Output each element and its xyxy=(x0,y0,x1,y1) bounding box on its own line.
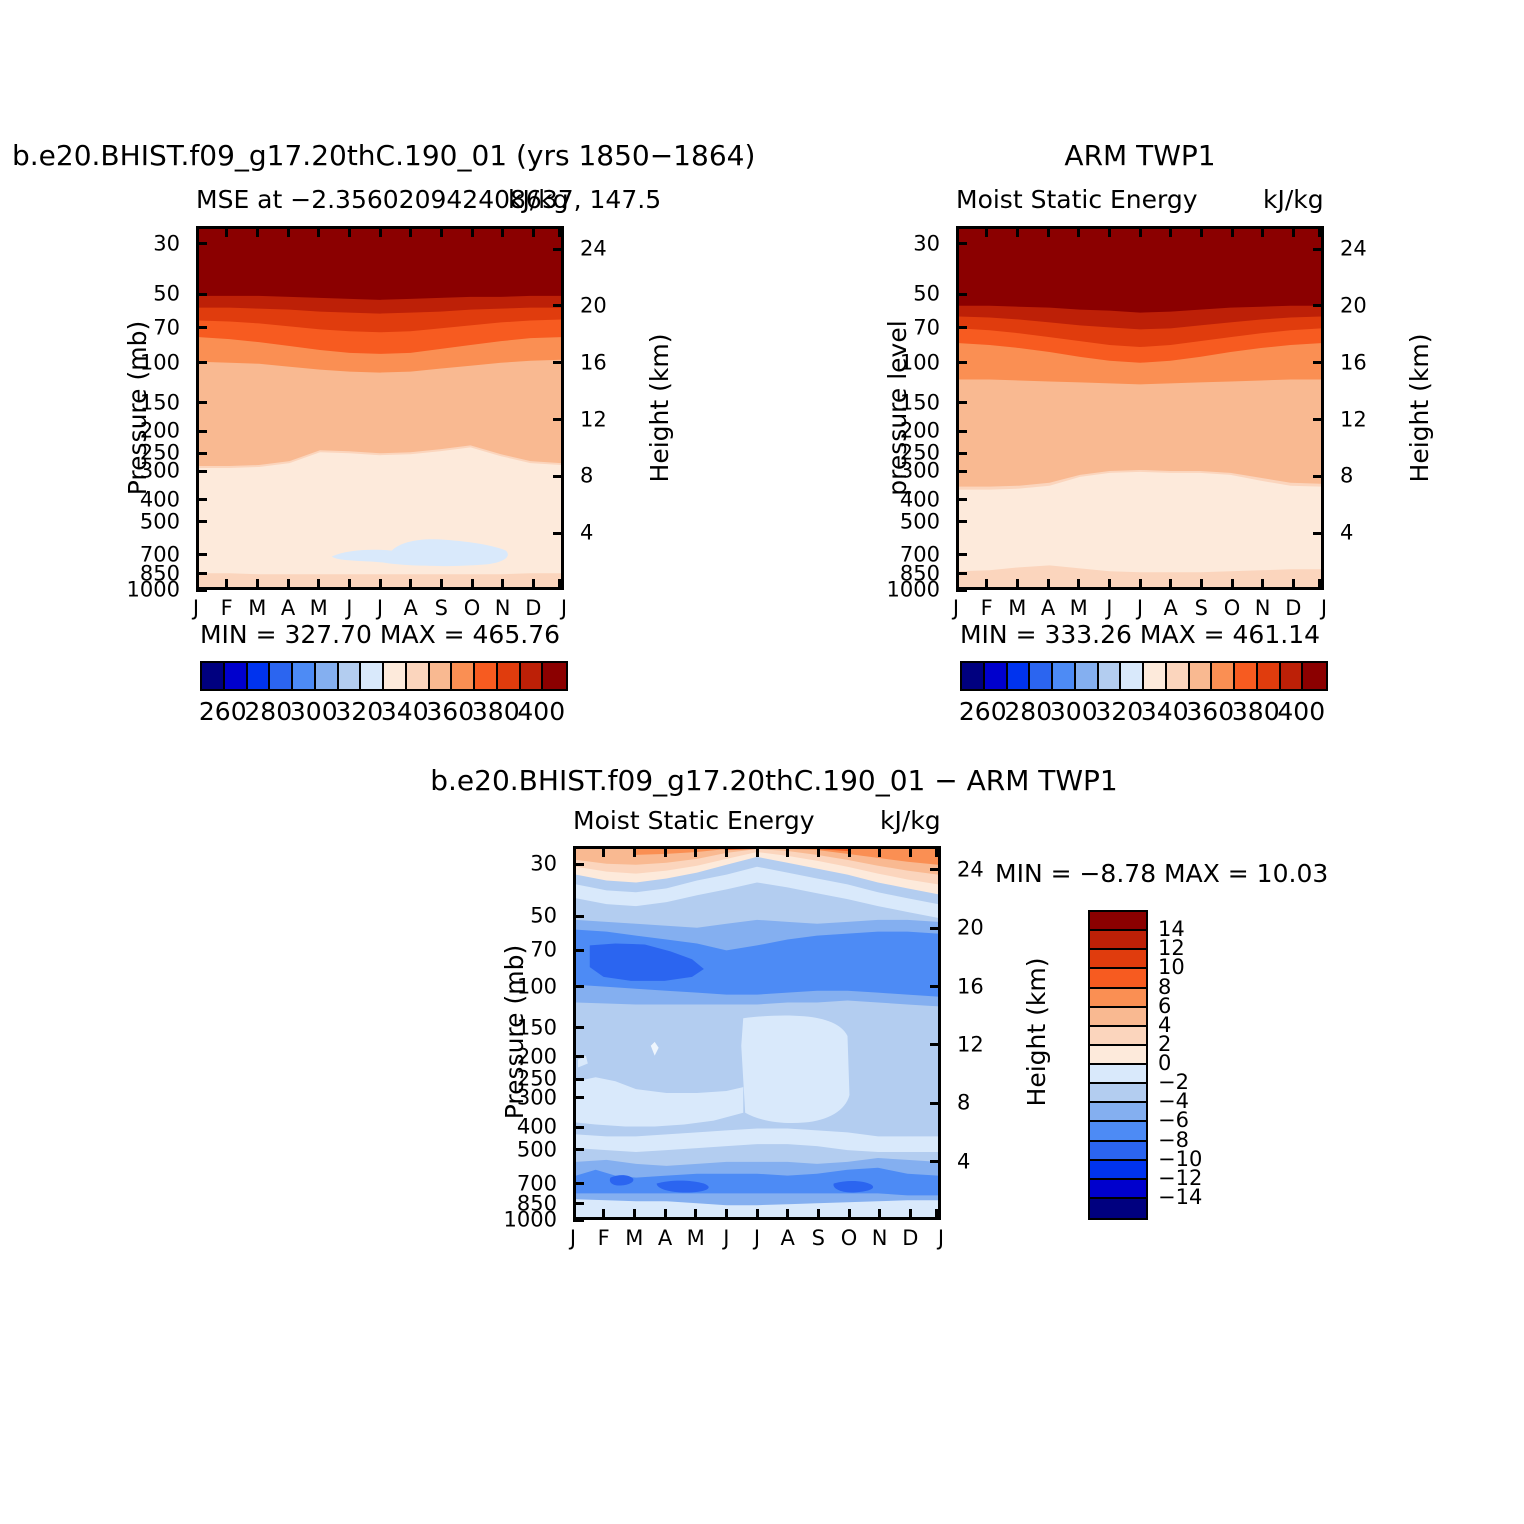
colorbar-cell xyxy=(1212,663,1235,689)
diff-minmax-text: MIN = −8.78 MAX = 10.03 xyxy=(995,859,1328,888)
colorbar-cell xyxy=(202,663,225,689)
month-tick xyxy=(878,1209,881,1220)
colorbar-label: 300 xyxy=(1050,697,1098,726)
colorbar-cell xyxy=(452,663,475,689)
month-tick-top xyxy=(532,226,535,237)
height-tick xyxy=(553,361,564,364)
pressure-tick xyxy=(196,326,207,329)
month-tick-label: F xyxy=(598,1228,610,1249)
pressure-tick xyxy=(956,293,967,296)
month-tick-label: N xyxy=(1255,598,1271,619)
obs-minmax-text: MIN = 333.26 MAX = 461.14 xyxy=(956,620,1324,649)
pressure-tick xyxy=(196,361,207,364)
month-tick xyxy=(1231,579,1234,590)
pressure-tick xyxy=(956,361,967,364)
month-tick-top xyxy=(471,226,474,237)
obs-y2-axis-title: Height (km) xyxy=(1405,334,1434,483)
pressure-tick xyxy=(573,1126,584,1129)
colorbar-cell xyxy=(293,663,316,689)
height-tick-label: 8 xyxy=(580,466,593,487)
colorbar-cell xyxy=(1030,663,1053,689)
month-tick xyxy=(1139,579,1142,590)
month-tick-label: J xyxy=(938,1228,944,1249)
month-tick-top xyxy=(558,226,561,237)
pressure-tick-label: 500 xyxy=(900,511,940,532)
month-tick-top xyxy=(817,846,820,857)
month-tick-top xyxy=(501,226,504,237)
month-tick xyxy=(756,1209,759,1220)
pressure-tick xyxy=(196,520,207,523)
month-tick xyxy=(1108,579,1111,590)
height-tick-label: 20 xyxy=(580,295,607,316)
month-tick-label: J xyxy=(953,598,959,619)
height-tick xyxy=(553,418,564,421)
pressure-tick-label: 30 xyxy=(153,233,180,254)
colorbar-cell xyxy=(1090,931,1146,950)
colorbar-cell xyxy=(1090,1180,1146,1199)
colorbar-label: 340 xyxy=(381,697,429,726)
height-tick xyxy=(553,304,564,307)
diff-y-axis-title: Pressure (mb) xyxy=(500,945,529,1119)
month-tick xyxy=(1261,579,1264,590)
pressure-tick xyxy=(573,1148,584,1151)
pressure-tick xyxy=(573,949,584,952)
pressure-tick xyxy=(573,1096,584,1099)
month-tick-top xyxy=(1200,226,1203,237)
month-tick xyxy=(379,579,382,590)
height-tick-label: 4 xyxy=(580,523,593,544)
month-tick-label: A xyxy=(658,1228,672,1249)
pressure-tick-label: 50 xyxy=(153,284,180,305)
month-tick-label: A xyxy=(403,598,417,619)
pressure-tick xyxy=(573,1182,584,1185)
colorbar-cell xyxy=(985,663,1008,689)
month-tick-top xyxy=(409,226,412,237)
month-tick-top xyxy=(633,846,636,857)
pressure-tick-label: 1000 xyxy=(887,580,940,601)
pressure-tick xyxy=(196,401,207,404)
month-tick xyxy=(1318,579,1321,590)
month-tick-top xyxy=(1261,226,1264,237)
colorbar-cell xyxy=(521,663,544,689)
month-tick-label: J xyxy=(193,598,199,619)
month-tick-label: A xyxy=(1041,598,1055,619)
colorbar-cell xyxy=(1008,663,1031,689)
colorbar-cell xyxy=(1076,663,1099,689)
colorbar-label: 380 xyxy=(472,697,520,726)
pressure-tick xyxy=(956,452,967,455)
month-tick-top xyxy=(664,846,667,857)
month-tick xyxy=(256,579,259,590)
height-tick-label: 16 xyxy=(1340,352,1367,373)
month-tick-top xyxy=(909,846,912,857)
colorbar-cell xyxy=(1090,1103,1146,1122)
model-contour-layer xyxy=(199,229,561,587)
month-tick xyxy=(935,1209,938,1220)
pressure-tick xyxy=(956,498,967,501)
month-tick-top xyxy=(1318,226,1321,237)
month-tick-top xyxy=(379,226,382,237)
height-tick-label: 20 xyxy=(957,918,984,939)
month-tick-label: N xyxy=(872,1228,888,1249)
height-tick-label: 24 xyxy=(1340,239,1367,260)
colorbar-cell xyxy=(316,663,339,689)
pressure-tick xyxy=(956,553,967,556)
pressure-tick xyxy=(956,401,967,404)
month-tick-label: J xyxy=(1137,598,1143,619)
month-tick-top xyxy=(225,226,228,237)
month-tick xyxy=(409,579,412,590)
month-tick xyxy=(558,579,561,590)
pressure-tick xyxy=(956,326,967,329)
month-tick xyxy=(786,1209,789,1220)
month-tick-top xyxy=(1016,226,1019,237)
colorbar-cell xyxy=(1090,1065,1146,1084)
month-tick-label: D xyxy=(1285,598,1301,619)
diff-panel-subtitle-right: kJ/kg xyxy=(880,806,941,835)
colorbar-cell xyxy=(1090,1122,1146,1141)
month-tick xyxy=(985,579,988,590)
height-tick-label: 12 xyxy=(580,409,607,430)
colorbar-cell xyxy=(498,663,521,689)
colorbar-cell xyxy=(1090,989,1146,1008)
month-tick-label: O xyxy=(464,598,481,619)
colorbar-cell xyxy=(1144,663,1167,689)
diff-panel-subtitle-left: Moist Static Energy xyxy=(573,806,815,835)
month-tick-label: M xyxy=(625,1228,643,1249)
height-tick xyxy=(553,248,564,251)
diff-contour-layer xyxy=(576,849,938,1217)
obs-panel-title: ARM TWP1 xyxy=(956,139,1324,172)
colorbar-cell xyxy=(1090,1142,1146,1161)
colorbar-cell xyxy=(1190,663,1213,689)
colorbar-cell xyxy=(1167,663,1190,689)
diff-colorbar[interactable] xyxy=(1088,910,1148,1220)
height-tick xyxy=(930,1102,941,1105)
month-tick-top xyxy=(602,846,605,857)
pressure-tick-label: 70 xyxy=(530,940,557,961)
month-tick xyxy=(909,1209,912,1220)
colorbar-cell xyxy=(361,663,384,689)
colorbar-cell xyxy=(1090,1046,1146,1065)
colorbar-cell xyxy=(1090,1027,1146,1046)
colorbar-cell xyxy=(1235,663,1258,689)
colorbar-cell xyxy=(962,663,985,689)
month-tick-top xyxy=(725,846,728,857)
pressure-tick xyxy=(956,242,967,245)
height-tick-label: 20 xyxy=(1340,295,1367,316)
month-tick-top xyxy=(440,226,443,237)
month-tick-top xyxy=(1108,226,1111,237)
month-tick-top xyxy=(956,226,959,237)
month-tick-top xyxy=(1231,226,1234,237)
pressure-tick-label: 70 xyxy=(913,317,940,338)
pressure-tick xyxy=(196,293,207,296)
colorbar-cell xyxy=(1303,663,1326,689)
height-tick xyxy=(1313,361,1324,364)
month-tick-top xyxy=(1169,226,1172,237)
month-tick xyxy=(348,579,351,590)
colorbar-label: 320 xyxy=(1095,697,1143,726)
diff-contour-plot[interactable] xyxy=(573,846,941,1220)
height-tick-label: 16 xyxy=(580,352,607,373)
colorbar-cell xyxy=(339,663,362,689)
month-tick-label: M xyxy=(1070,598,1088,619)
colorbar-cell xyxy=(475,663,498,689)
month-tick-label: M xyxy=(310,598,328,619)
colorbar-label: 360 xyxy=(1186,697,1234,726)
month-tick-label: M xyxy=(248,598,266,619)
month-tick-label: J xyxy=(570,1228,576,1249)
month-tick xyxy=(573,1209,576,1220)
colorbar-cell xyxy=(384,663,407,689)
pressure-tick-label: 1000 xyxy=(504,1210,557,1231)
obs-panel-subtitle-right: kJ/kg xyxy=(1263,185,1324,214)
month-tick xyxy=(317,579,320,590)
month-tick xyxy=(664,1209,667,1220)
month-tick-label: D xyxy=(525,598,541,619)
model-panel-subtitle-right: kJ/kg xyxy=(508,185,569,214)
month-tick-label: D xyxy=(902,1228,918,1249)
colorbar-cell xyxy=(1281,663,1304,689)
colorbar-label: 360 xyxy=(426,697,474,726)
colorbar-label: 400 xyxy=(517,697,565,726)
colorbar-cell xyxy=(248,663,271,689)
pressure-tick xyxy=(956,430,967,433)
month-tick-label: A xyxy=(281,598,295,619)
month-tick-label: S xyxy=(435,598,448,619)
colorbar-cell xyxy=(1121,663,1144,689)
colorbar-label: 380 xyxy=(1232,697,1280,726)
obs-contour-plot[interactable] xyxy=(956,226,1324,590)
pressure-tick xyxy=(573,863,584,866)
month-tick-label: J xyxy=(561,598,567,619)
month-tick-top xyxy=(1047,226,1050,237)
month-tick-label: A xyxy=(1163,598,1177,619)
month-tick-label: J xyxy=(754,1228,760,1249)
month-tick-label: J xyxy=(723,1228,729,1249)
month-tick xyxy=(817,1209,820,1220)
height-tick-label: 4 xyxy=(1340,523,1353,544)
pressure-tick xyxy=(573,985,584,988)
colorbar-label: 280 xyxy=(244,697,292,726)
pressure-tick-label: 50 xyxy=(913,284,940,305)
model-y-axis-title: Pressure (mb) xyxy=(123,321,152,495)
obs-y-axis-title: pressure level xyxy=(883,320,912,495)
colorbar-label: 300 xyxy=(290,697,338,726)
height-tick-label: 16 xyxy=(957,976,984,997)
month-tick-label: M xyxy=(687,1228,705,1249)
colorbar-cell xyxy=(1090,1084,1146,1103)
pressure-tick xyxy=(196,498,207,501)
pressure-tick-label: 30 xyxy=(530,854,557,875)
diff-y2-axis-title: Height (km) xyxy=(1022,958,1051,1107)
month-tick-top xyxy=(256,226,259,237)
colorbar-cell xyxy=(1090,1008,1146,1027)
height-tick xyxy=(1313,418,1324,421)
colorbar-cell xyxy=(1090,969,1146,988)
month-tick xyxy=(1200,579,1203,590)
pressure-tick xyxy=(196,572,207,575)
month-tick-label: J xyxy=(1106,598,1112,619)
pressure-tick-label: 1000 xyxy=(127,580,180,601)
colorbar-cell xyxy=(543,663,566,689)
month-tick-top xyxy=(1139,226,1142,237)
height-tick-label: 12 xyxy=(1340,409,1367,430)
obs-contour-layer xyxy=(959,229,1321,587)
colorbar-cell xyxy=(1090,1161,1146,1180)
height-tick-label: 8 xyxy=(1340,466,1353,487)
pressure-tick xyxy=(956,520,967,523)
colorbar-cell xyxy=(407,663,430,689)
height-tick xyxy=(1313,532,1324,535)
pressure-tick xyxy=(196,553,207,556)
month-tick xyxy=(1016,579,1019,590)
pressure-tick-label: 50 xyxy=(530,906,557,927)
month-tick-label: A xyxy=(780,1228,794,1249)
month-tick-label: J xyxy=(377,598,383,619)
colorbar-cell xyxy=(1090,912,1146,931)
pressure-tick xyxy=(573,915,584,918)
height-tick xyxy=(930,1160,941,1163)
month-tick xyxy=(471,579,474,590)
month-tick-top xyxy=(573,846,576,857)
colorbar-label: 340 xyxy=(1141,697,1189,726)
colorbar-cell xyxy=(1258,663,1281,689)
month-tick-top xyxy=(935,846,938,857)
month-tick-top xyxy=(985,226,988,237)
height-tick xyxy=(930,927,941,930)
colorbar-label: 400 xyxy=(1277,697,1325,726)
month-tick xyxy=(287,579,290,590)
colorbar-cell xyxy=(1090,950,1146,969)
month-tick xyxy=(1077,579,1080,590)
month-tick-label: N xyxy=(495,598,511,619)
colorbar-cell xyxy=(270,663,293,689)
pressure-tick-label: 400 xyxy=(517,1117,557,1138)
colorbar-cell xyxy=(1099,663,1122,689)
month-tick xyxy=(1169,579,1172,590)
pressure-tick-label: 30 xyxy=(913,233,940,254)
month-tick xyxy=(633,1209,636,1220)
month-tick xyxy=(440,579,443,590)
height-tick xyxy=(930,985,941,988)
month-tick-label: S xyxy=(812,1228,825,1249)
month-tick-top xyxy=(694,846,697,857)
month-tick xyxy=(501,579,504,590)
month-tick xyxy=(1292,579,1295,590)
pressure-tick xyxy=(196,242,207,245)
month-tick-top xyxy=(848,846,851,857)
month-tick-label: O xyxy=(841,1228,858,1249)
month-tick xyxy=(196,579,199,590)
model-contour-plot[interactable] xyxy=(196,226,564,590)
height-tick-label: 12 xyxy=(957,1034,984,1055)
colorbar-label: −14 xyxy=(1158,1185,1202,1209)
month-tick xyxy=(225,579,228,590)
obs-panel-subtitle-left: Moist Static Energy xyxy=(956,185,1198,214)
pressure-tick xyxy=(196,452,207,455)
pressure-tick xyxy=(196,470,207,473)
model-minmax-text: MIN = 327.70 MAX = 465.76 xyxy=(196,620,564,649)
month-tick-top xyxy=(1077,226,1080,237)
month-tick xyxy=(956,579,959,590)
month-tick-label: J xyxy=(346,598,352,619)
height-tick xyxy=(1313,475,1324,478)
colorbar-cell xyxy=(1090,1199,1146,1218)
pressure-tick xyxy=(956,572,967,575)
pressure-tick-label: 500 xyxy=(517,1139,557,1160)
height-tick-label: 4 xyxy=(957,1151,970,1172)
height-tick xyxy=(930,868,941,871)
month-tick-top xyxy=(348,226,351,237)
month-tick xyxy=(848,1209,851,1220)
month-tick xyxy=(532,579,535,590)
mse-colorbar-obs[interactable] xyxy=(960,661,1328,691)
height-tick-label: 24 xyxy=(580,239,607,260)
pressure-tick-label: 500 xyxy=(140,511,180,532)
month-tick xyxy=(725,1209,728,1220)
pressure-tick xyxy=(573,1202,584,1205)
month-tick xyxy=(1047,579,1050,590)
model-y2-axis-title: Height (km) xyxy=(645,334,674,483)
height-tick-label: 8 xyxy=(957,1093,970,1114)
colorbar-label: 260 xyxy=(199,697,247,726)
month-tick-label: F xyxy=(221,598,233,619)
month-tick-top xyxy=(756,846,759,857)
height-tick xyxy=(1313,304,1324,307)
month-tick-top xyxy=(287,226,290,237)
month-tick-top xyxy=(196,226,199,237)
pressure-tick xyxy=(196,430,207,433)
month-tick-label: J xyxy=(1321,598,1327,619)
colorbar-label: 260 xyxy=(959,697,1007,726)
month-tick-label: S xyxy=(1195,598,1208,619)
colorbar-cell xyxy=(225,663,248,689)
month-tick xyxy=(602,1209,605,1220)
height-tick xyxy=(553,532,564,535)
pressure-tick xyxy=(573,1026,584,1029)
month-tick-top xyxy=(1292,226,1295,237)
pressure-tick xyxy=(956,470,967,473)
month-tick-top xyxy=(786,846,789,857)
colorbar-label: 320 xyxy=(335,697,383,726)
month-tick-label: F xyxy=(981,598,993,619)
pressure-tick-label: 70 xyxy=(153,317,180,338)
height-tick-label: 24 xyxy=(957,859,984,880)
colorbar-cell xyxy=(1053,663,1076,689)
mse-colorbar-model[interactable] xyxy=(200,661,568,691)
month-tick xyxy=(694,1209,697,1220)
month-tick-top xyxy=(878,846,881,857)
pressure-tick xyxy=(573,1055,584,1058)
month-tick-label: M xyxy=(1008,598,1026,619)
height-tick xyxy=(1313,248,1324,251)
colorbar-cell xyxy=(430,663,453,689)
month-tick-top xyxy=(317,226,320,237)
diff-panel-title: b.e20.BHIST.f09_g17.20thC.190_01 − ARM T… xyxy=(424,764,1124,797)
height-tick xyxy=(930,1043,941,1046)
pressure-tick xyxy=(573,1078,584,1081)
month-tick-label: O xyxy=(1224,598,1241,619)
colorbar-label: 280 xyxy=(1004,697,1052,726)
model-panel-title: b.e20.BHIST.f09_g17.20thC.190_01 (yrs 18… xyxy=(12,139,755,172)
height-tick xyxy=(553,475,564,478)
